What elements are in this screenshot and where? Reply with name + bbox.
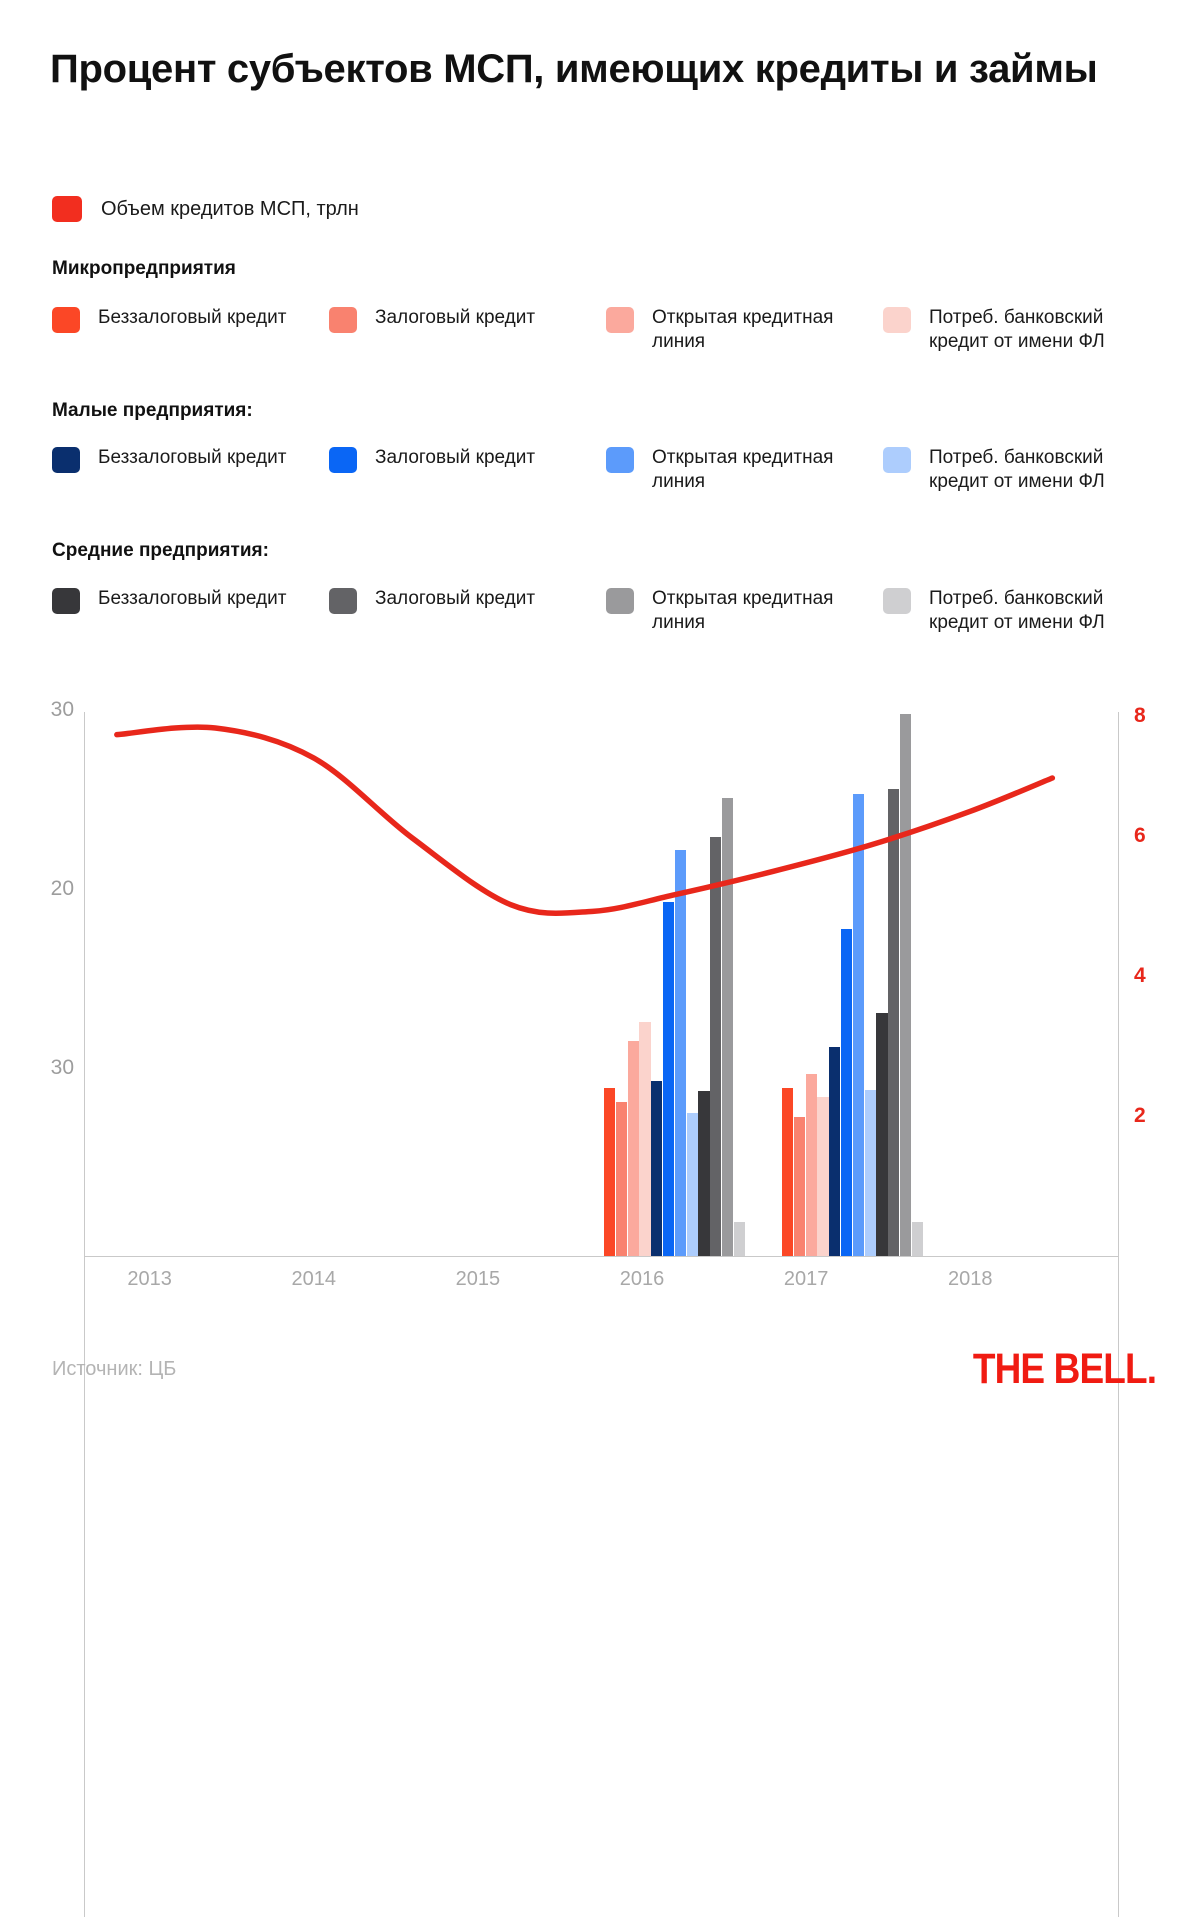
- legend-label-medium-consumer: Потреб. банковский кредит от имени ФЛ: [929, 587, 1160, 635]
- legend-item-micro-consumer: Потреб. банковский кредит от имени ФЛ: [883, 306, 1160, 354]
- page-title: Процент субъектов МСП, имеющих кредиты и…: [50, 46, 1130, 93]
- x-axis-tick: 2017: [746, 1268, 866, 1291]
- legend-swatch-small-unsecured: [52, 447, 80, 473]
- x-axis-tick: 2013: [90, 1268, 210, 1291]
- y-axis-right-tick: 8: [1134, 704, 1146, 728]
- legend-group-heading-small: Малые предприятия:: [52, 400, 253, 422]
- legend-swatch-small-creditline: [606, 447, 634, 473]
- x-axis-tick: 2014: [254, 1268, 374, 1291]
- legend-label-credit-volume: Объем кредитов МСП, трлн: [101, 198, 359, 221]
- legend-item-micro-unsecured: Беззалоговый кредит: [52, 306, 329, 354]
- legend-swatch-medium-consumer: [883, 588, 911, 614]
- infographic-page: Процент субъектов МСП, имеющих кредиты и…: [0, 0, 1200, 1438]
- legend-label-small-unsecured: Беззалоговый кредит: [98, 446, 286, 470]
- legend-group-heading-medium: Средние предприятия:: [52, 540, 269, 562]
- legend-item-medium-secured: Залоговый кредит: [329, 587, 606, 635]
- legend-item-small-unsecured: Беззалоговый кредит: [52, 446, 329, 494]
- legend-row-medium: Беззалоговый кредит Залоговый кредит Отк…: [52, 587, 1162, 635]
- brand-logo: THE BELL.: [973, 1345, 1156, 1394]
- legend-swatch-medium-creditline: [606, 588, 634, 614]
- legend-label-micro-creditline: Открытая кредитная линия: [652, 306, 883, 354]
- legend-swatch-small-consumer: [883, 447, 911, 473]
- chart-plot-area: 302030 8642 201320142015201620172018: [0, 660, 1200, 1300]
- legend-label-medium-secured: Залоговый кредит: [375, 587, 535, 611]
- legend-swatch-medium-secured: [329, 588, 357, 614]
- source-note: Источник: ЦБ: [52, 1358, 176, 1381]
- legend-item-medium-creditline: Открытая кредитная линия: [606, 587, 883, 635]
- legend-swatch-micro-unsecured: [52, 307, 80, 333]
- credit-volume-line-chart: [0, 660, 1200, 1300]
- y-axis-left-tick: 30: [14, 698, 74, 722]
- legend-label-micro-consumer: Потреб. банковский кредит от имени ФЛ: [929, 306, 1160, 354]
- y-axis-left-tick: 30: [14, 1056, 74, 1080]
- legend-item-credit-volume: Объем кредитов МСП, трлн: [52, 196, 359, 222]
- legend-label-micro-unsecured: Беззалоговый кредит: [98, 306, 286, 330]
- legend-label-medium-unsecured: Беззалоговый кредит: [98, 587, 286, 611]
- legend-item-micro-creditline: Открытая кредитная линия: [606, 306, 883, 354]
- y-axis-right-tick: 6: [1134, 824, 1146, 848]
- legend-label-medium-creditline: Открытая кредитная линия: [652, 587, 883, 635]
- legend-row-small: Беззалоговый кредит Залоговый кредит Отк…: [52, 446, 1162, 494]
- legend-swatch-medium-unsecured: [52, 588, 80, 614]
- x-axis-tick: 2015: [418, 1268, 538, 1291]
- legend-item-small-creditline: Открытая кредитная линия: [606, 446, 883, 494]
- y-axis-right-tick: 2: [1134, 1104, 1146, 1128]
- legend-label-small-creditline: Открытая кредитная линия: [652, 446, 883, 494]
- legend-swatch-credit-volume: [52, 196, 82, 222]
- legend-swatch-micro-creditline: [606, 307, 634, 333]
- legend-item-medium-consumer: Потреб. банковский кредит от имени ФЛ: [883, 587, 1160, 635]
- y-axis-left-tick: 20: [14, 877, 74, 901]
- legend-row-micro: Беззалоговый кредит Залоговый кредит Отк…: [52, 306, 1162, 354]
- legend-label-micro-secured: Залоговый кредит: [375, 306, 535, 330]
- y-axis-right-tick: 4: [1134, 964, 1146, 988]
- legend-swatch-micro-secured: [329, 307, 357, 333]
- legend-item-small-secured: Залоговый кредит: [329, 446, 606, 494]
- legend-swatch-micro-consumer: [883, 307, 911, 333]
- legend-item-micro-secured: Залоговый кредит: [329, 306, 606, 354]
- x-axis-tick: 2016: [582, 1268, 702, 1291]
- legend-item-medium-unsecured: Беззалоговый кредит: [52, 587, 329, 635]
- legend-label-small-consumer: Потреб. банковский кредит от имени ФЛ: [929, 446, 1160, 494]
- legend-item-small-consumer: Потреб. банковский кредит от имени ФЛ: [883, 446, 1160, 494]
- x-axis-tick: 2018: [910, 1268, 1030, 1291]
- credit-volume-line: [117, 727, 1053, 913]
- legend-swatch-small-secured: [329, 447, 357, 473]
- legend-label-small-secured: Залоговый кредит: [375, 446, 535, 470]
- legend-group-heading-micro: Микропредприятия: [52, 258, 236, 280]
